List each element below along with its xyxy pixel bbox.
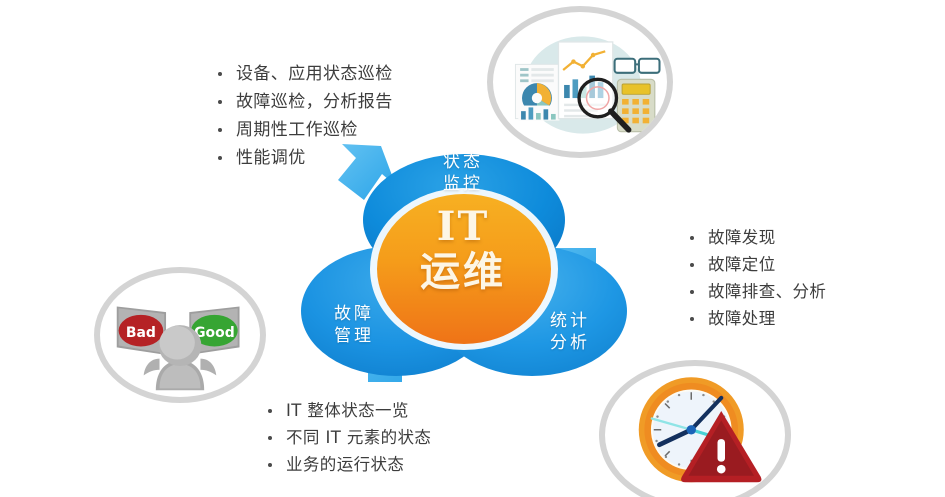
bar-chart [518,106,559,121]
list-item: 业务的运行状态 [264,451,431,478]
list-item: IT 整体状态一览 [264,397,431,424]
fault-bullet-list: 故障发现 故障定位 故障排查、分析 故障处理 [686,224,826,332]
status-bullet-list: IT 整体状态一览 不同 IT 元素的状态 业务的运行状态 [264,397,431,478]
flower-svg [278,128,648,390]
list-item: 故障排查、分析 [686,278,826,305]
diagram-canvas: 设备、应用状态巡检 故障巡检，分析报告 周期性工作巡检 性能调优 故障发现 故障… [0,0,945,497]
bad-sign: Bad [117,306,166,354]
svg-text:Good: Good [194,325,235,341]
svg-text:Bad: Bad [126,325,156,341]
list-item: 不同 IT 元素的状态 [264,424,431,451]
good-bad-signs-illustration: Bad Good [100,273,260,400]
list-item: 设备、应用状态巡检 [214,60,393,88]
good-bad-illustration-circle: Bad Good [94,267,266,403]
it-operations-flower-diagram: 状态 监控 故障 管理 统计 分析 IT 运维 [278,128,648,390]
list-item: 故障巡检，分析报告 [214,88,393,116]
list-item: 故障定位 [686,251,826,278]
list-item: 故障发现 [686,224,826,251]
list-item: 故障处理 [686,305,826,332]
center-disc[interactable] [370,188,558,350]
